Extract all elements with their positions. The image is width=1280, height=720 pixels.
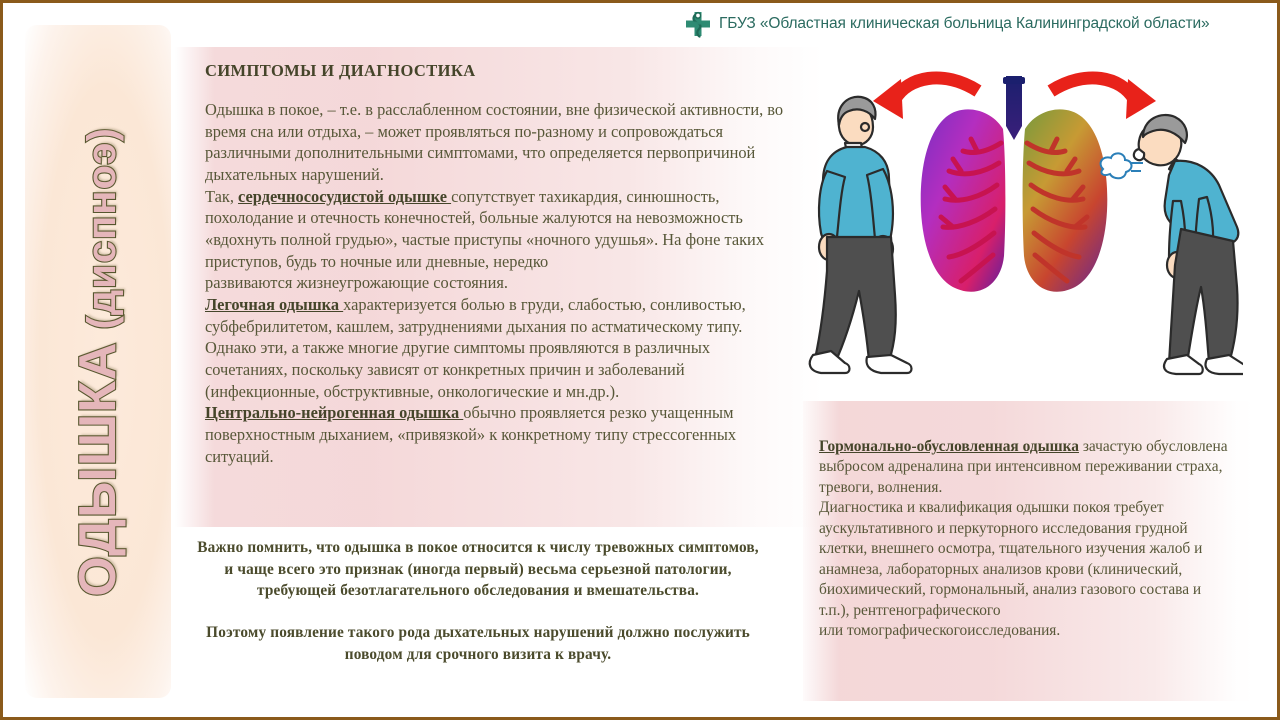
lungs-and-two-men-illustration (803, 51, 1243, 391)
sidebar-title-panel: ОДЫШКА (диспноэ) (25, 25, 171, 698)
term-cardiovascular-dyspnea: сердечнососудистой одышке (238, 187, 451, 206)
paragraph-intro-text: Одышка в покое, – т.е. в расслабленном с… (205, 100, 783, 184)
term-hormonal-dyspnea: Гормонально-обусловленная одышка (819, 438, 1079, 455)
header-bar: ГБУЗ «Областная клиническая больница Кал… (683, 7, 1263, 41)
vertical-title-wrapper: ОДЫШКА (диспноэ) (68, 127, 128, 597)
bent-over-breathing-man-figure (1134, 115, 1243, 374)
section-heading: СИМПТОМЫ И ДИАГНОСТИКА (205, 61, 789, 81)
paragraph-cardio-prefix: Так, (205, 187, 238, 206)
paragraph-intro: Одышка в покое, – т.е. в расслабленном с… (205, 99, 789, 186)
slide-page: ГБУЗ «Областная клиническая больница Кал… (0, 0, 1280, 720)
paragraph-tomography-text: или томографическогоисследования. (819, 622, 1060, 639)
important-note-block: Важно помнить, что одышка в покое относи… (193, 537, 763, 666)
paragraph-diagnostics-text: Диагностика и квалификация одышки покоя … (819, 499, 1202, 618)
important-note-paragraph-1: Важно помнить, что одышка в покое относи… (193, 537, 763, 602)
paragraph-pulmonary: Легочная одышка характеризуется болью в … (205, 294, 789, 402)
paragraph-hormonal: Гормонально-обусловленная одышка зачасту… (819, 437, 1231, 498)
page-title-paren: (диспноэ) (80, 127, 124, 341)
right-text-panel: Гормонально-обусловленная одышка зачасту… (803, 401, 1253, 701)
paragraph-lifethreatening: развиваются жизнеугрожающие состояния. (205, 272, 789, 294)
paragraph-lifethreatening-text: развиваются жизнеугрожающие состояния. (205, 273, 508, 292)
paragraph-diagnostics: Диагностика и квалификация одышки покоя … (819, 498, 1231, 621)
medical-cross-snake-icon (683, 9, 713, 39)
main-text-panel: СИМПТОМЫ И ДИАГНОСТИКА Одышка в покое, –… (175, 47, 823, 527)
paragraph-neurogenic: Центрально-нейрогенная одышка обычно про… (205, 402, 789, 467)
colored-lungs-diagram (921, 76, 1108, 292)
walking-man-figure (810, 97, 912, 373)
term-pulmonary-dyspnea: Легочная одышка (205, 295, 343, 314)
paragraph-cardiovascular: Так, сердечнососудистой одышке сопутству… (205, 186, 789, 273)
paragraph-tomography: или томографическогоисследования. (819, 621, 1231, 641)
important-note-paragraph-2: Поэтому появление такого рода дыхательны… (193, 622, 763, 665)
term-central-neurogenic-dyspnea: Центрально-нейрогенная одышка (205, 403, 463, 422)
hospital-name-label: ГБУЗ «Областная клиническая больница Кал… (719, 15, 1210, 33)
page-title: ОДЫШКА (диспноэ) (69, 127, 127, 597)
page-title-main: ОДЫШКА (69, 341, 127, 596)
